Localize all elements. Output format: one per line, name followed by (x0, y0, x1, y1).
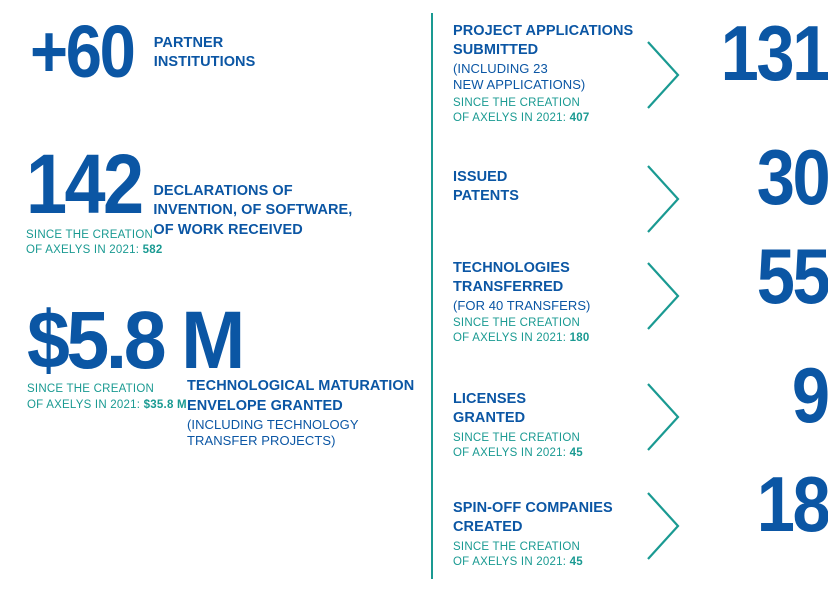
stat-since-text-maturation-envelope: SINCE THE CREATION OF AXELYS IN 2021: (27, 383, 154, 410)
stat-since-value-technologies-transferred: 180 (570, 332, 590, 344)
stat-since-licenses-granted: SINCE THE CREATION OF AXELYS IN 2021: 45 (453, 431, 658, 462)
stat-label-project-applications: PROJECT APPLICATIONS SUBMITTED (453, 22, 658, 61)
stat-block-partner-institutions: +60 PARTNER INSTITUTIONS (30, 22, 255, 83)
stat-text-group-issued-patents: ISSUED PATENTS (453, 168, 658, 207)
stat-text-group-maturation-envelope: TECHNOLOGICAL MATURATION ENVELOPE GRANTE… (187, 377, 414, 450)
stat-label-partner-institutions: PARTNER INSTITUTIONS (154, 34, 256, 83)
statistics-infographic: +60 PARTNER INSTITUTIONS 142 DECLARATION… (0, 0, 828, 593)
stat-since-value-maturation-envelope: $35.8 M (144, 399, 187, 411)
stat-sublabel-maturation-envelope: (INCLUDING TECHNOLOGY TRANSFER PROJECTS) (187, 417, 414, 450)
stat-value-maturation-envelope: $5.8 M (27, 307, 391, 374)
stat-label-licenses-granted: LICENSES GRANTED (453, 390, 658, 429)
stat-value-project-applications: 131 (721, 22, 828, 86)
stat-sublabel-project-applications: (INCLUDING 23 NEW APPLICATIONS) (453, 61, 658, 94)
stat-label-spinoff-companies: SPIN-OFF COMPANIES CREATED (453, 499, 658, 538)
stat-block-declarations: 142 DECLARATIONS OF INVENTION, OF SOFTWA… (26, 158, 352, 258)
right-statistics-column: PROJECT APPLICATIONS SUBMITTED (INCLUDIN… (441, 0, 828, 593)
stat-text-group-licenses-granted: LICENSES GRANTED SINCE THE CREATION OF A… (453, 390, 658, 461)
chevron-right-icon (644, 259, 684, 333)
left-statistics-column: +60 PARTNER INSTITUTIONS 142 DECLARATION… (0, 0, 420, 593)
chevron-right-icon (644, 38, 684, 112)
stat-text-group-spinoff-companies: SPIN-OFF COMPANIES CREATED SINCE THE CRE… (453, 499, 658, 570)
stat-since-text-licenses-granted: SINCE THE CREATION OF AXELYS IN 2021: (453, 432, 580, 459)
stat-since-spinoff-companies: SINCE THE CREATION OF AXELYS IN 2021: 45 (453, 540, 658, 571)
stat-since-value-licenses-granted: 45 (570, 447, 583, 459)
stat-value-licenses-granted: 9 (792, 364, 828, 428)
column-divider (431, 13, 433, 579)
stat-since-text-declarations: SINCE THE CREATION OF AXELYS IN 2021: (26, 229, 153, 256)
stat-value-issued-patents: 30 (756, 146, 828, 210)
stat-value-partner-institutions: +60 (30, 22, 134, 83)
stat-since-value-declarations: 582 (143, 244, 163, 256)
stat-label-declarations: DECLARATIONS OF INVENTION, OF SOFTWARE, … (153, 158, 352, 240)
stat-block-maturation-envelope: $5.8 M SINCE THE CREATION OF AXELYS IN 2… (27, 307, 414, 450)
stat-label-technologies-transferred: TECHNOLOGIES TRANSFERRED (453, 259, 658, 298)
stat-since-text-technologies-transferred: SINCE THE CREATION OF AXELYS IN 2021: (453, 317, 580, 344)
stat-value-declarations: 142 (26, 150, 142, 219)
stat-sublabel-technologies-transferred: (FOR 40 TRANSFERS) (453, 298, 658, 315)
stat-value-spinoff-companies: 18 (756, 473, 828, 537)
stat-label-issued-patents: ISSUED PATENTS (453, 168, 658, 207)
stat-since-value-project-applications: 407 (570, 112, 590, 124)
chevron-right-icon (644, 380, 684, 454)
chevron-right-icon (644, 162, 684, 236)
stat-since-text-spinoff-companies: SINCE THE CREATION OF AXELYS IN 2021: (453, 541, 580, 568)
stat-since-maturation-envelope: SINCE THE CREATION OF AXELYS IN 2021: $3… (27, 382, 187, 413)
stat-value-technologies-transferred: 55 (756, 245, 828, 309)
chevron-right-icon (644, 489, 684, 563)
stat-since-value-spinoff-companies: 45 (570, 556, 583, 568)
stat-text-group-technologies-transferred: TECHNOLOGIES TRANSFERRED (FOR 40 TRANSFE… (453, 259, 658, 347)
stat-since-text-project-applications: SINCE THE CREATION OF AXELYS IN 2021: (453, 97, 580, 124)
stat-since-project-applications: SINCE THE CREATION OF AXELYS IN 2021: 40… (453, 96, 658, 127)
stat-since-technologies-transferred: SINCE THE CREATION OF AXELYS IN 2021: 18… (453, 316, 658, 347)
stat-text-group-project-applications: PROJECT APPLICATIONS SUBMITTED (INCLUDIN… (453, 22, 658, 126)
